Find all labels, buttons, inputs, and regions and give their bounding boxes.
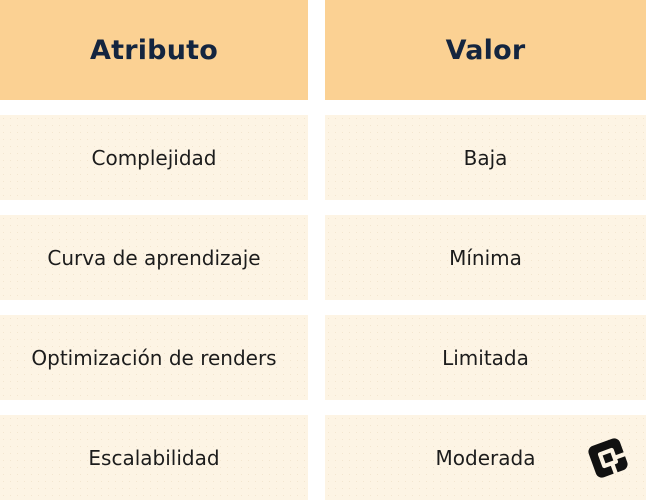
brand-logo-icon — [582, 432, 634, 484]
table-row: Baja — [325, 115, 646, 200]
table-cell-attribute: Curva de aprendizaje — [47, 246, 260, 270]
table-cell-value: Limitada — [442, 346, 529, 370]
table-row: Escalabilidad — [0, 415, 308, 500]
table-header-cell-atributo: Atributo — [0, 0, 308, 100]
table-header-cell-valor: Valor — [325, 0, 646, 100]
table-cell-value: Mínima — [449, 246, 522, 270]
table-row: Complejidad — [0, 115, 308, 200]
table-row: Moderada — [325, 415, 646, 500]
table-row: Limitada — [325, 315, 646, 400]
table-row: Curva de aprendizaje — [0, 215, 308, 300]
table-header-label: Valor — [446, 35, 526, 66]
table-header-label: Atributo — [90, 35, 218, 66]
table-row: Optimización de renders — [0, 315, 308, 400]
comparison-table: Atributo Valor Complejidad Baja Curva de… — [0, 0, 646, 487]
table-row: Mínima — [325, 215, 646, 300]
table-cell-attribute: Escalabilidad — [88, 446, 219, 470]
table-cell-value: Baja — [464, 146, 508, 170]
table-cell-value: Moderada — [436, 446, 536, 470]
table-cell-attribute: Optimización de renders — [31, 346, 276, 370]
table-cell-attribute: Complejidad — [92, 146, 217, 170]
table-grid: Atributo Valor Complejidad Baja Curva de… — [0, 0, 646, 500]
